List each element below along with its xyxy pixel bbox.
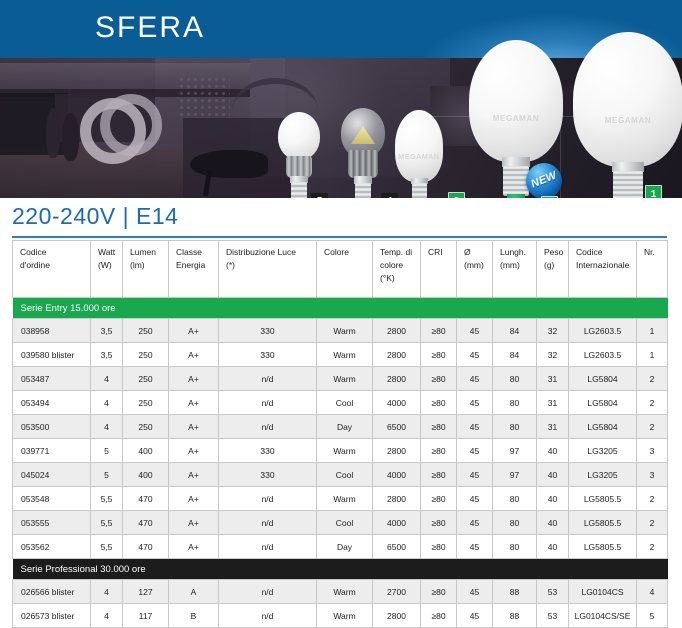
table-cell: LG3205 (569, 463, 637, 487)
table-cell: n/d (219, 535, 317, 559)
table-cell: 250 (123, 319, 169, 343)
table-cell: 45 (457, 367, 493, 391)
table-row: 0535004250A+n/dDay6500≥80458031LG58042 (13, 415, 668, 439)
table-cell: 80 (493, 367, 537, 391)
table-cell: 6500 (373, 415, 421, 439)
table-cell: B (169, 604, 219, 628)
bulb-glass (395, 110, 443, 182)
table-cell: LG3205 (569, 439, 637, 463)
table-cell: Day (317, 535, 373, 559)
table-cell: LG5804 (569, 415, 637, 439)
col-header-nr: Nr. (637, 241, 668, 298)
table-cell: 117 (123, 604, 169, 628)
table-cell: 2 (637, 415, 668, 439)
table-row: 0397715400A+330Warm2800≥80459740LG32053 (13, 439, 668, 463)
table-cell: 039771 (13, 439, 91, 463)
table-cell: 470 (123, 487, 169, 511)
table-cell: 3,5 (91, 319, 123, 343)
table-cell: A+ (169, 463, 219, 487)
table-cell: 88 (493, 604, 537, 628)
table-cell: 53 (537, 604, 569, 628)
table-cell: 45 (457, 487, 493, 511)
table-cell: A+ (169, 319, 219, 343)
table-cell: ≥80 (421, 463, 457, 487)
table-cell: 2800 (373, 367, 421, 391)
bulb-tip (507, 194, 525, 198)
table-cell: 32 (537, 319, 569, 343)
table-row: 0389583,5250A+330Warm2800≥80458432LG2603… (13, 319, 668, 343)
table-cell: ≥80 (421, 487, 457, 511)
photo-vase-1 (46, 108, 60, 158)
table-cell: 250 (123, 391, 169, 415)
table-cell: 250 (123, 343, 169, 367)
table-cell: 80 (493, 487, 537, 511)
table-cell: 4 (637, 580, 668, 604)
table-cell: A+ (169, 415, 219, 439)
col-header-cri: CRI (421, 241, 457, 298)
bulb-badge-5: 5 (311, 193, 328, 198)
new-badge: NEW (526, 163, 562, 198)
table-cell: ≥80 (421, 415, 457, 439)
table-row: 026573 blister4117Bn/dWarm2800≥80458853L… (13, 604, 668, 628)
table-cell: 2 (637, 487, 668, 511)
table-cell: 3 (637, 439, 668, 463)
table-cell: 2 (637, 367, 668, 391)
col-header-watt: Watt (W) (91, 241, 123, 298)
table-cell: 84 (493, 319, 537, 343)
table-cell: 330 (219, 343, 317, 367)
table-cell: 026573 blister (13, 604, 91, 628)
table-cell: ≥80 (421, 367, 457, 391)
product-datasheet-page: SFERA 5 4 MEGAMAN 3 (0, 0, 682, 601)
table-cell: ≥80 (421, 604, 457, 628)
table-cell: 2800 (373, 604, 421, 628)
table-cell: 5,5 (91, 535, 123, 559)
table-cell: 053548 (13, 487, 91, 511)
table-cell: 2 (637, 511, 668, 535)
table-cell: A+ (169, 391, 219, 415)
table-section-band: Serie Professional 30.000 ore (13, 559, 668, 580)
photo-texture (178, 76, 230, 116)
table-cell: 5,5 (91, 511, 123, 535)
table-cell: 400 (123, 463, 169, 487)
table-cell: 45 (457, 319, 493, 343)
table-cell: 40 (537, 487, 569, 511)
table-cell: 5 (637, 604, 668, 628)
bulb-glass (469, 40, 563, 162)
table-cell: 45 (457, 604, 493, 628)
bulb-heatsink (348, 150, 378, 178)
new-badge-label: NEW (525, 168, 563, 193)
table-cell: 2700 (373, 580, 421, 604)
table-cell: n/d (219, 391, 317, 415)
table-cell: 4000 (373, 511, 421, 535)
table-cell: 45 (457, 439, 493, 463)
bulb-glass (573, 32, 682, 167)
table-cell: 053487 (13, 367, 91, 391)
table-cell: LG2603.5 (569, 343, 637, 367)
table-cell: n/d (219, 580, 317, 604)
table-cell: 470 (123, 535, 169, 559)
table-cell: 84 (493, 343, 537, 367)
table-cell: Warm (317, 367, 373, 391)
bulb-e14-screw (291, 182, 307, 198)
table-cell: 31 (537, 391, 569, 415)
bulb-e14-screw (355, 183, 371, 198)
col-header-lunghezza: Lungh. (mm) (493, 241, 537, 298)
table-cell: Day (317, 415, 373, 439)
table-cell: 250 (123, 367, 169, 391)
col-header-peso: Peso (g) (537, 241, 569, 298)
specs-table-wrapper: Codice d'ordine Watt (W) Lumen (lm) Clas… (12, 240, 667, 628)
table-cell: 45 (457, 343, 493, 367)
table-cell: n/d (219, 511, 317, 535)
table-row: 0535625,5470A+n/dDay6500≥80458040LG5805.… (13, 535, 668, 559)
table-cell: ≥80 (421, 439, 457, 463)
table-row: 0535485,5470A+n/dWarm2800≥80458040LG5805… (13, 487, 668, 511)
table-cell: 6500 (373, 535, 421, 559)
table-cell: 40 (537, 511, 569, 535)
col-header-lumen: Lumen (lm) (123, 241, 169, 298)
table-cell: 80 (493, 511, 537, 535)
bulb-glass (278, 112, 320, 160)
table-row: 026566 blister4127An/dWarm2700≥80458853L… (13, 580, 668, 604)
table-cell: Cool (317, 463, 373, 487)
bulb-badge-2: 2 (541, 196, 558, 198)
col-header-colore: Colore (317, 241, 373, 298)
table-section-band-label: Serie Entry 15.000 ore (13, 298, 668, 319)
table-cell: 330 (219, 463, 317, 487)
table-cell: 31 (537, 367, 569, 391)
table-cell: 53 (537, 580, 569, 604)
table-cell: LG0104CS (569, 580, 637, 604)
table-body: Serie Entry 15.000 ore0389583,5250A+330W… (13, 298, 668, 628)
table-cell: A+ (169, 487, 219, 511)
table-cell: 4 (91, 367, 123, 391)
table-cell: LG5804 (569, 391, 637, 415)
table-cell: 80 (493, 535, 537, 559)
table-cell: A+ (169, 511, 219, 535)
table-cell: 97 (493, 463, 537, 487)
table-cell: 5,5 (91, 487, 123, 511)
col-header-temp-colore: Temp. di colore (°K) (373, 241, 421, 298)
table-row: 0535555,5470A+n/dCool4000≥80458040LG5805… (13, 511, 668, 535)
table-cell: 4 (91, 391, 123, 415)
bulb-badge-1: 1 (645, 185, 662, 198)
table-cell: 470 (123, 511, 169, 535)
table-row: 039580 blister3,5250A+330Warm2800≥804584… (13, 343, 668, 367)
table-section-band-label: Serie Professional 30.000 ore (13, 559, 668, 580)
bulb-e14-screw (613, 171, 643, 198)
table-cell: 4 (91, 580, 123, 604)
table-cell: 45 (457, 535, 493, 559)
table-cell: 32 (537, 343, 569, 367)
table-cell: 40 (537, 463, 569, 487)
table-header-row: Codice d'ordine Watt (W) Lumen (lm) Clas… (13, 241, 668, 298)
table-cell: ≥80 (421, 319, 457, 343)
table-cell: LG0104CS/SE (569, 604, 637, 628)
hero-banner: SFERA 5 4 MEGAMAN 3 (0, 0, 682, 198)
table-cell: 127 (123, 580, 169, 604)
table-cell: 400 (123, 439, 169, 463)
table-cell: ≥80 (421, 511, 457, 535)
col-header-classe-energia: Classe Energia (169, 241, 219, 298)
product-bulb-3: MEGAMAN (395, 110, 443, 198)
table-cell: n/d (219, 415, 317, 439)
table-cell: 039580 blister (13, 343, 91, 367)
table-cell: 45 (457, 580, 493, 604)
table-cell: Cool (317, 391, 373, 415)
table-cell: 053494 (13, 391, 91, 415)
table-cell: 2800 (373, 343, 421, 367)
table-cell: 330 (219, 439, 317, 463)
bulb-brand-label: MEGAMAN (469, 114, 563, 123)
table-cell: 053562 (13, 535, 91, 559)
table-cell: 4 (91, 415, 123, 439)
specifications-table: Codice d'ordine Watt (W) Lumen (lm) Clas… (12, 240, 668, 628)
col-header-diametro: Ø (mm) (457, 241, 493, 298)
table-cell: A+ (169, 367, 219, 391)
page-title: SFERA (95, 11, 205, 45)
table-cell: Warm (317, 343, 373, 367)
table-cell: n/d (219, 487, 317, 511)
table-cell: A+ (169, 535, 219, 559)
table-cell: 330 (219, 319, 317, 343)
table-cell: Cool (317, 511, 373, 535)
table-cell: 3 (637, 463, 668, 487)
table-cell: 045024 (13, 463, 91, 487)
table-cell: 1 (637, 319, 668, 343)
table-row: 0534944250A+n/dCool4000≥80458031LG58042 (13, 391, 668, 415)
voltage-socket-subtitle: 220-240V | E14 (12, 203, 178, 230)
table-cell: ≥80 (421, 535, 457, 559)
table-cell: 250 (123, 415, 169, 439)
table-cell: Warm (317, 319, 373, 343)
table-cell: 40 (537, 439, 569, 463)
table-cell: 4000 (373, 463, 421, 487)
table-cell: Warm (317, 487, 373, 511)
table-cell: A (169, 580, 219, 604)
table-cell: 45 (457, 391, 493, 415)
table-cell: 97 (493, 439, 537, 463)
table-cell: A+ (169, 439, 219, 463)
col-header-codice-internazionale: Codice Internazionale (569, 241, 637, 298)
table-cell: 2 (637, 535, 668, 559)
table-row: 0534874250A+n/dWarm2800≥80458031LG58042 (13, 367, 668, 391)
subtitle-rule (12, 236, 667, 238)
table-cell: 45 (457, 415, 493, 439)
col-header-distribuzione-luce: Distribuzione Luce (*) (219, 241, 317, 298)
bulb-brand-label: MEGAMAN (573, 116, 682, 125)
table-cell: 026566 blister (13, 580, 91, 604)
table-cell: Warm (317, 604, 373, 628)
table-cell: 4 (91, 604, 123, 628)
table-cell: ≥80 (421, 343, 457, 367)
table-section-band: Serie Entry 15.000 ore (13, 298, 668, 319)
table-cell: LG5805.5 (569, 535, 637, 559)
table-cell: 31 (537, 415, 569, 439)
table-cell: 88 (493, 580, 537, 604)
table-cell: LG5805.5 (569, 511, 637, 535)
table-cell: 3,5 (91, 343, 123, 367)
bulb-heatsink (286, 156, 312, 178)
table-cell: LG5804 (569, 367, 637, 391)
table-cell: 038958 (13, 319, 91, 343)
table-cell: 4000 (373, 391, 421, 415)
table-cell: n/d (219, 604, 317, 628)
table-cell: 053500 (13, 415, 91, 439)
table-cell: 45 (457, 463, 493, 487)
bulb-badge-3: 3 (448, 192, 465, 198)
table-row: 0450245400A+330Cool4000≥80459740LG32053 (13, 463, 668, 487)
bulb-e14-screw (412, 183, 427, 198)
photo-decor-ring-2 (100, 94, 162, 156)
table-cell: 2800 (373, 487, 421, 511)
table-cell: Warm (317, 439, 373, 463)
table-cell: ≥80 (421, 580, 457, 604)
product-bulb-5 (277, 112, 321, 198)
col-header-codice-ordine: Codice d'ordine (13, 241, 91, 298)
table-cell: 053555 (13, 511, 91, 535)
table-cell: 2800 (373, 319, 421, 343)
table-cell: LG5805.5 (569, 487, 637, 511)
table-cell: Warm (317, 580, 373, 604)
photo-chair-seat (190, 150, 268, 178)
table-cell: 45 (457, 511, 493, 535)
table-cell: 2 (637, 391, 668, 415)
table-cell: 5 (91, 463, 123, 487)
photo-vase-2 (62, 113, 79, 161)
product-bulb-4 (340, 108, 386, 198)
table-cell: ≥80 (421, 391, 457, 415)
table-cell: LG2603.5 (569, 319, 637, 343)
table-cell: 80 (493, 391, 537, 415)
product-bulb-1: MEGAMAN (573, 32, 682, 198)
table-cell: 5 (91, 439, 123, 463)
table-cell: n/d (219, 367, 317, 391)
table-cell: 40 (537, 535, 569, 559)
bulb-brand-label: MEGAMAN (395, 154, 443, 161)
table-cell: 1 (637, 343, 668, 367)
table-cell: 2800 (373, 439, 421, 463)
table-cell: 80 (493, 415, 537, 439)
table-cell: A+ (169, 343, 219, 367)
table-head: Codice d'ordine Watt (W) Lumen (lm) Clas… (13, 241, 668, 298)
